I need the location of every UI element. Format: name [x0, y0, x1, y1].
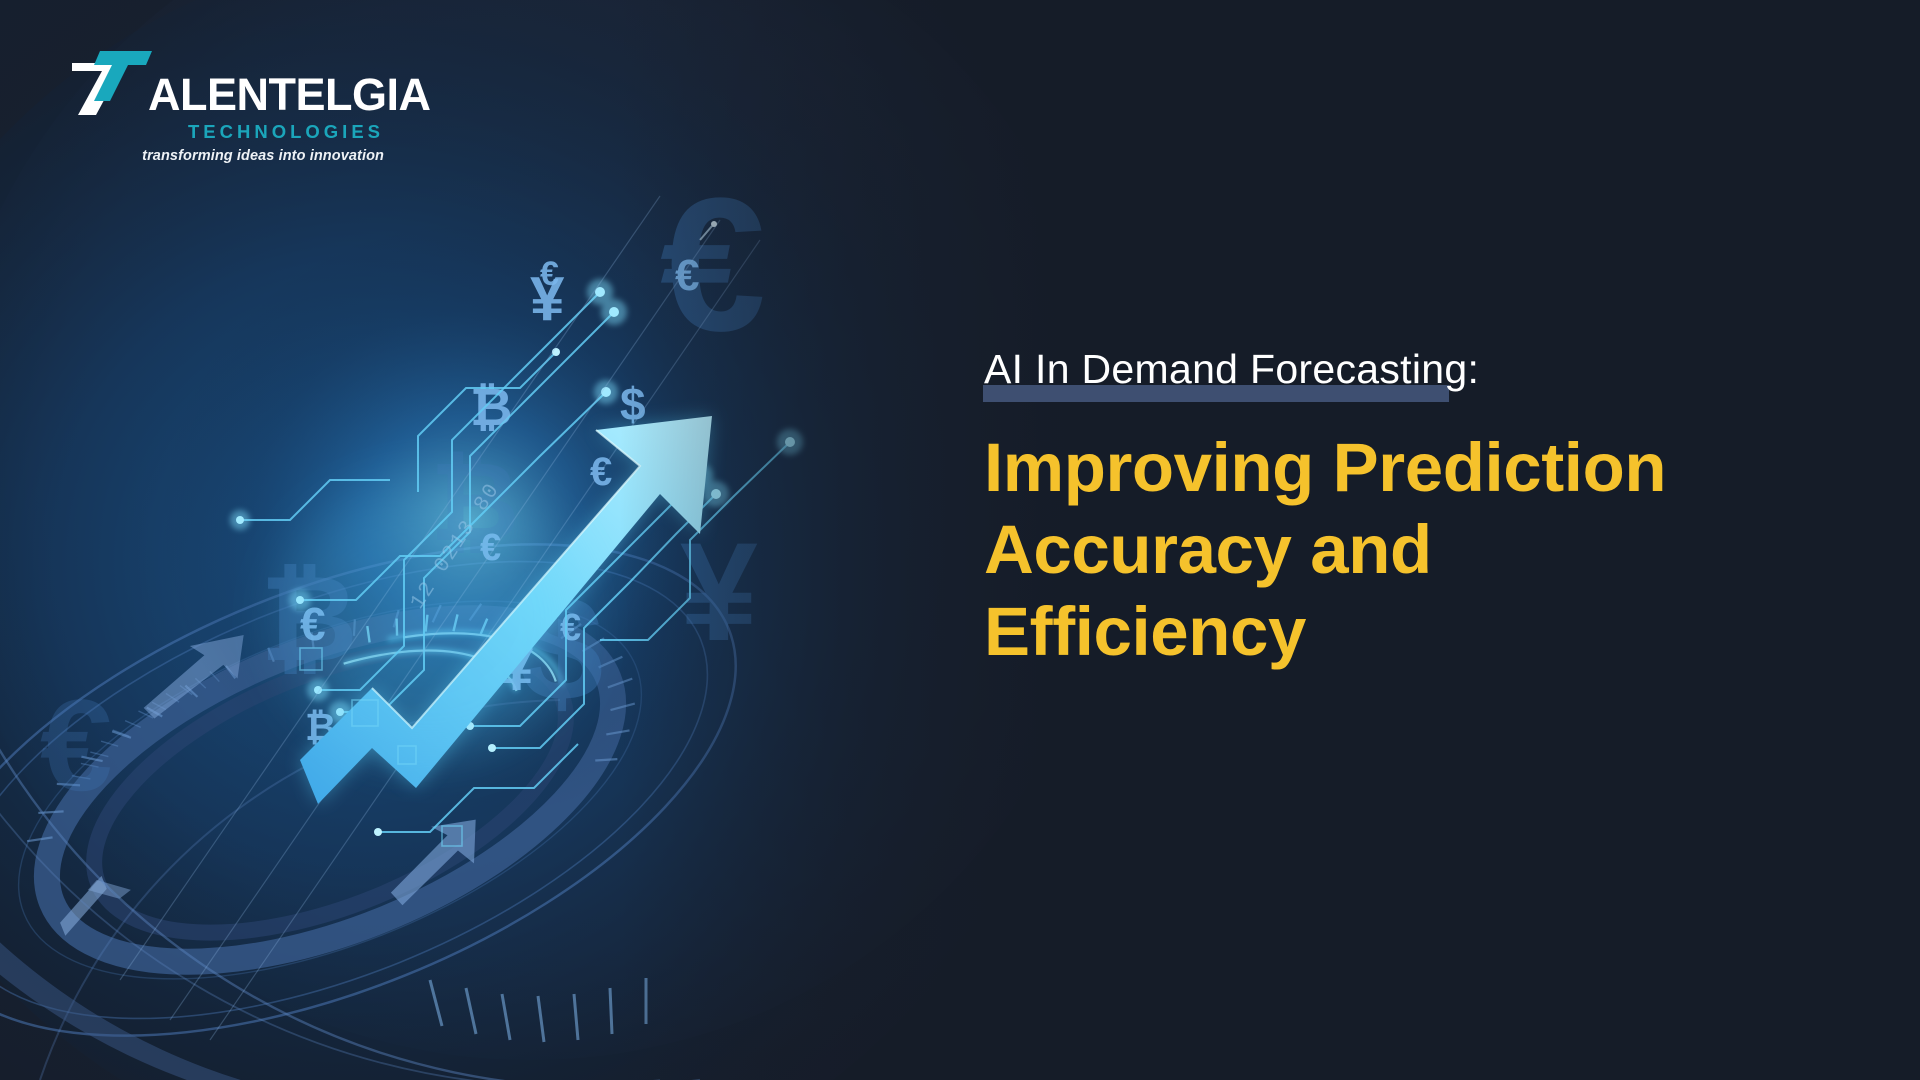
- eyebrow-wrapper: AI In Demand Forecasting:: [984, 346, 1834, 393]
- currency-symbol-yuan-large: ¥: [680, 513, 758, 670]
- currency-symbol-euro-sm-1: €: [540, 255, 559, 293]
- talentelgia-t7-mark: [66, 43, 152, 120]
- page-eyebrow: AI In Demand Forecasting:: [984, 346, 1834, 393]
- page-title-line-3: Efficiency: [984, 591, 1834, 673]
- headline-block: AI In Demand Forecasting: Improving Pred…: [984, 346, 1834, 673]
- logo-wordmark: ALENTELGIA: [148, 72, 431, 117]
- logo-subtitle: TECHNOLOGIES: [66, 121, 386, 143]
- blog-hero-banner: € $ ₿ ¥ ₿ € ¥ € € ₿ $ € € € ¥ € ₿: [0, 0, 1920, 1080]
- currency-symbol-euro-sm-2: €: [675, 251, 699, 300]
- currency-symbol-euro-left: €: [40, 672, 112, 818]
- currency-symbol-dollar-sm: $: [620, 378, 646, 430]
- page-title-line-1: Improving Prediction: [984, 427, 1834, 509]
- page-title-line-2: Accuracy and: [984, 509, 1834, 591]
- page-title: Improving Prediction Accuracy and Effici…: [984, 427, 1834, 673]
- logo-tagline: transforming ideas into innovation: [66, 148, 386, 164]
- talentelgia-logo[interactable]: ALENTELGIA TECHNOLOGIES transforming ide…: [66, 48, 386, 164]
